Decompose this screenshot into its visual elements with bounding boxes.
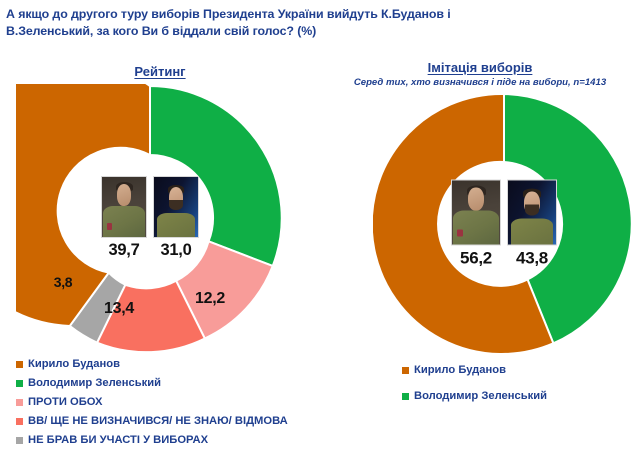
legend-label: ПРОТИ ОБОХ bbox=[28, 396, 103, 408]
donut-svg-rating bbox=[16, 84, 284, 352]
legend-label: Володимир Зеленський bbox=[28, 377, 161, 389]
legend-item-undecided[interactable]: ВВ/ ЩЕ НЕ ВИЗНАЧИВСЯ/ НЕ ЗНАЮ/ ВІДМОВА bbox=[16, 415, 336, 427]
chart-subtitle-simulation: Серед тих, хто визначився і піде на вибо… bbox=[320, 77, 640, 89]
legend-item-budanov[interactable]: Кирило Буданов bbox=[402, 364, 640, 376]
legend-swatch-icon bbox=[16, 361, 23, 368]
donut-chart-simulation: 56,2 43,8 bbox=[373, 93, 635, 355]
legend-label: Кирило Буданов bbox=[28, 358, 120, 370]
legend-swatch-icon bbox=[402, 393, 409, 400]
legend-swatch-icon bbox=[16, 418, 23, 425]
donut-chart-rating: 12,2 13,4 3,8 39,7 31,0 bbox=[16, 84, 284, 352]
legend-item-zelensky[interactable]: Володимир Зеленський bbox=[402, 390, 640, 402]
legend-simulation: Кирило Буданов Володимир Зеленський bbox=[320, 364, 640, 416]
legend-item-zelensky[interactable]: Володимир Зеленський bbox=[16, 377, 336, 389]
donut-slice-zelensky[interactable] bbox=[150, 86, 282, 266]
chart-title-simulation: Імітація виборів bbox=[320, 60, 640, 75]
chart-title-rating: Рейтинг bbox=[0, 64, 320, 79]
legend-item-would-not-vote[interactable]: НЕ БРАВ БИ УЧАСТІ У ВИБОРАХ bbox=[16, 434, 336, 446]
legend-swatch-icon bbox=[16, 399, 23, 406]
legend-swatch-icon bbox=[402, 367, 409, 374]
legend-swatch-icon bbox=[16, 380, 23, 387]
legend-label: НЕ БРАВ БИ УЧАСТІ У ВИБОРАХ bbox=[28, 434, 208, 446]
donut-svg-simulation bbox=[373, 93, 635, 355]
legend-swatch-icon bbox=[16, 437, 23, 444]
legend-label: ВВ/ ЩЕ НЕ ВИЗНАЧИВСЯ/ НЕ ЗНАЮ/ ВІДМОВА bbox=[28, 415, 288, 427]
chart-panel-rating: Рейтинг 12,2 13,4 3,8 39,7 bbox=[0, 58, 320, 461]
page-title: А якщо до другого туру виборів Президент… bbox=[6, 6, 476, 40]
legend-item-budanov[interactable]: Кирило Буданов bbox=[16, 358, 336, 370]
chart-panel-simulation: Імітація виборів Серед тих, хто визначив… bbox=[320, 58, 640, 461]
legend-label: Кирило Буданов bbox=[414, 364, 506, 376]
legend-item-against-both[interactable]: ПРОТИ ОБОХ bbox=[16, 396, 336, 408]
legend-label: Володимир Зеленський bbox=[414, 390, 547, 402]
legend-rating: Кирило Буданов Володимир Зеленський ПРОТ… bbox=[0, 358, 336, 453]
